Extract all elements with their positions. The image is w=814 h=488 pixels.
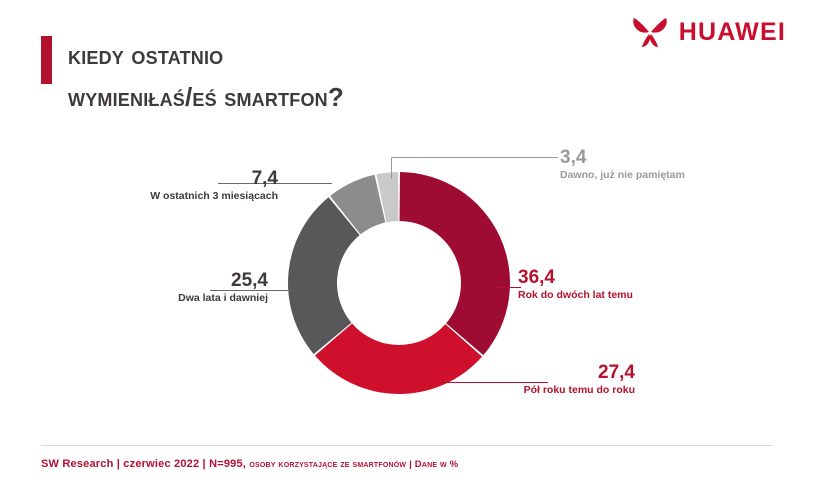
huawei-wordmark: HUAWEI bbox=[679, 18, 786, 47]
slice-label-pol-roku: 27,4 Pół roku temu do roku bbox=[430, 362, 635, 397]
donut-chart-svg bbox=[288, 172, 510, 394]
source-note: SW Research | czerwiec 2022 | N=995, oso… bbox=[41, 458, 458, 470]
page-title-line-2: wymieniłaś/eś smartfon? bbox=[68, 76, 588, 118]
page-title: Kiedy ostatnio wymieniłaś/eś smartfon? bbox=[68, 34, 588, 118]
huawei-logo: HUAWEI bbox=[630, 16, 786, 48]
slice-label-dwa-lata: 25,4 Dwa lata i dawniej bbox=[10, 270, 268, 305]
slice-label-3-miesiace: 7,4 W ostatnich 3 miesiącach bbox=[10, 168, 278, 203]
donut-chart: 3,4 Dawno, już nie pamiętam 7,4 W ostatn… bbox=[0, 130, 814, 430]
source-note-main: SW Research | czerwiec 2022 | N=995, bbox=[41, 458, 249, 470]
donut-slice bbox=[400, 172, 510, 355]
huawei-flower-icon bbox=[630, 16, 670, 48]
slice-label-dawno: 3,4 Dawno, już nie pamiętam bbox=[560, 147, 685, 182]
title-accent-bar bbox=[41, 36, 52, 84]
leader-line-dawno bbox=[392, 157, 558, 158]
page-title-line-1: Kiedy ostatnio bbox=[68, 34, 588, 76]
source-note-detail: osoby korzystające ze smartfonów | Dane … bbox=[249, 459, 458, 470]
slice-label-rok-do-dwoch-lat: 36,4 Rok do dwóch lat temu bbox=[518, 267, 633, 302]
leader-line-dawno-drop bbox=[391, 157, 392, 179]
footer-divider bbox=[41, 445, 773, 446]
